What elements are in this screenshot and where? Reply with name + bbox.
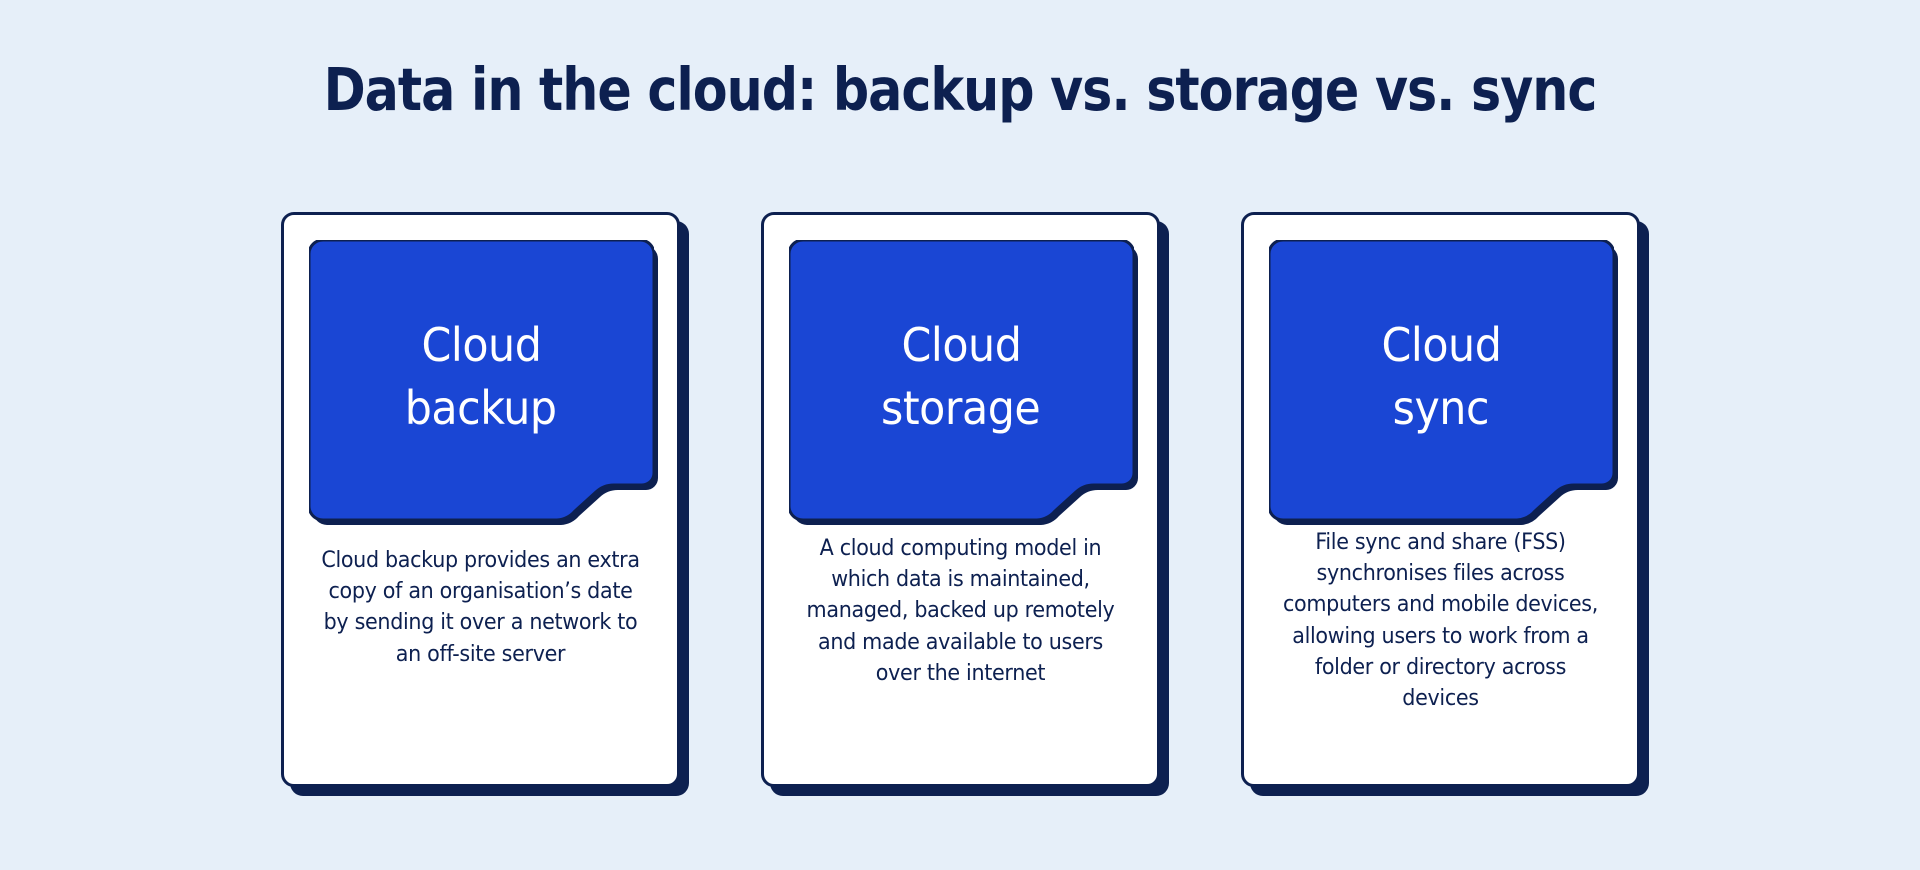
card-cloud-sync[interactable]: Cloud sync File sync and share (FSS) syn… bbox=[1241, 212, 1640, 787]
card-header-panel: Cloud storage bbox=[789, 240, 1134, 520]
card-heading: Cloud backup bbox=[309, 240, 654, 520]
card-surface: Cloud backup Cloud backup provides an ex… bbox=[281, 212, 680, 787]
card-description: A cloud computing model in which data is… bbox=[796, 533, 1124, 689]
card-row: Cloud backup Cloud backup provides an ex… bbox=[0, 212, 1920, 787]
card-surface: Cloud storage A cloud computing model in… bbox=[761, 212, 1160, 787]
card-heading-line-2: storage bbox=[881, 377, 1040, 440]
card-cloud-storage[interactable]: Cloud storage A cloud computing model in… bbox=[761, 212, 1160, 787]
card-heading: Cloud storage bbox=[789, 240, 1134, 520]
card-header-panel: Cloud sync bbox=[1269, 240, 1614, 520]
card-heading-line-2: sync bbox=[1393, 377, 1489, 440]
card-surface: Cloud sync File sync and share (FSS) syn… bbox=[1241, 212, 1640, 787]
card-heading-line-1: Cloud bbox=[901, 314, 1021, 377]
card-heading-line-1: Cloud bbox=[421, 314, 541, 377]
card-description: Cloud backup provides an extra copy of a… bbox=[316, 545, 644, 670]
infographic-page: Data in the cloud: backup vs. storage vs… bbox=[0, 0, 1920, 870]
card-header-panel: Cloud backup bbox=[309, 240, 654, 520]
page-title: Data in the cloud: backup vs. storage vs… bbox=[134, 56, 1785, 124]
card-heading: Cloud sync bbox=[1269, 240, 1614, 520]
card-heading-line-1: Cloud bbox=[1381, 314, 1501, 377]
card-description: File sync and share (FSS) synchronises f… bbox=[1276, 527, 1604, 714]
card-heading-line-2: backup bbox=[405, 377, 557, 440]
card-cloud-backup[interactable]: Cloud backup Cloud backup provides an ex… bbox=[281, 212, 680, 787]
